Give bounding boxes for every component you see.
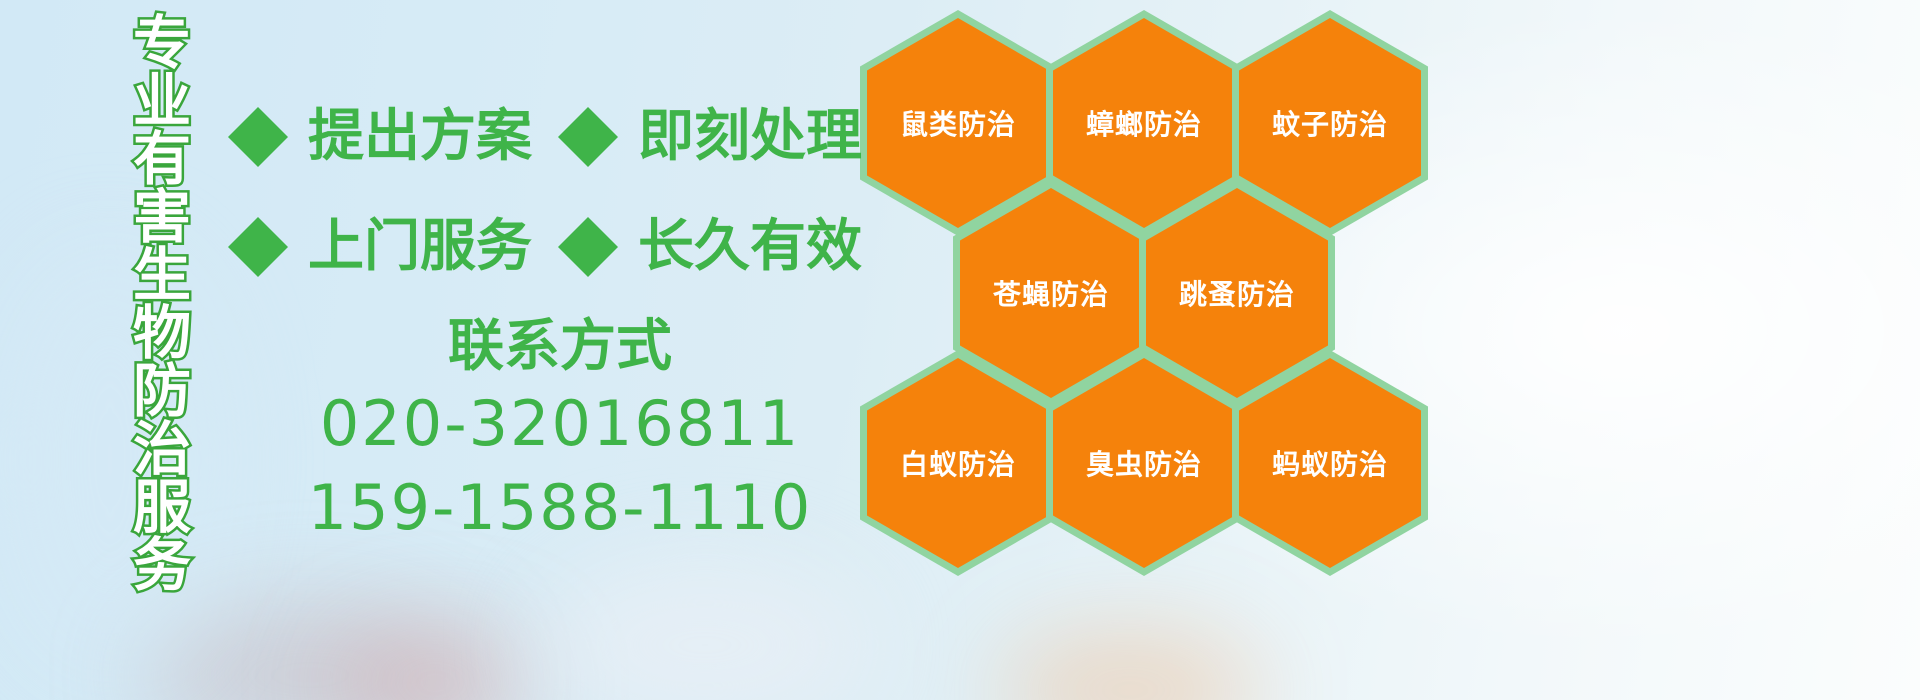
hex-inner: 蟑螂防治 xyxy=(1053,18,1235,228)
feature-label: 上门服务 xyxy=(308,219,532,275)
feature-list: 提出方案 即刻处理 上门服务 长久有效 xyxy=(228,82,868,302)
hex-inner: 臭虫防治 xyxy=(1053,358,1235,568)
hex-label: 蟑螂防治 xyxy=(1086,103,1202,143)
phone-number-mobile[interactable]: 159-1588-1110 xyxy=(240,466,880,550)
vertical-headline-char: 服 xyxy=(133,478,191,536)
vertical-headline-char: 生 xyxy=(133,246,191,304)
hex-inner: 鼠类防治 xyxy=(867,18,1049,228)
vertical-headline-char: 业 xyxy=(133,72,191,130)
background-blur-blob xyxy=(1000,630,1260,700)
contact-block: 联系方式 020-32016811 159-1588-1110 xyxy=(240,312,880,549)
vertical-headline-char: 有 xyxy=(133,130,191,188)
diamond-icon xyxy=(228,187,288,247)
hex-inner: 白蚁防治 xyxy=(867,358,1049,568)
feature-label: 提出方案 xyxy=(308,109,532,165)
hex-inner: 蚊子防治 xyxy=(1239,18,1421,228)
feature-row: 提出方案 即刻处理 xyxy=(228,82,868,192)
hex-inner: 苍蝇防治 xyxy=(960,188,1142,398)
hex-label: 蚂蚁防治 xyxy=(1272,443,1388,483)
vertical-headline-char: 务 xyxy=(133,536,191,594)
phone-number-landline[interactable]: 020-32016811 xyxy=(240,382,880,466)
hex-label: 蚊子防治 xyxy=(1272,103,1388,143)
hex-label: 白蚁防治 xyxy=(900,443,1016,483)
feature-item-door-to-door-service: 上门服务 xyxy=(228,217,558,277)
hex-label: 跳蚤防治 xyxy=(1179,273,1295,313)
diamond-icon xyxy=(228,77,288,137)
hex-inner: 跳蚤防治 xyxy=(1146,188,1328,398)
feature-item-immediate-handling: 即刻处理 xyxy=(558,107,862,167)
hex-inner: 蚂蚁防治 xyxy=(1239,358,1421,568)
vertical-headline-char: 防 xyxy=(133,362,191,420)
vertical-headline-char: 治 xyxy=(133,420,191,478)
background-blur-blob xyxy=(540,560,870,700)
hex-label: 臭虫防治 xyxy=(1086,443,1202,483)
background-blur-blob xyxy=(140,600,480,700)
service-hexagon-grid: 鼠类防治 蟑螂防治 蚊子防治 苍蝇防治 跳蚤防治 白蚁防治 xyxy=(860,0,1500,640)
promo-banner: 专 业 有 害 生 物 防 治 服 务 提出方案 即刻处理 上门服务 xyxy=(0,0,1920,700)
feature-item-propose-plan: 提出方案 xyxy=(228,107,558,167)
feature-label: 即刻处理 xyxy=(638,109,862,165)
feature-label: 长久有效 xyxy=(638,219,862,275)
hex-label: 鼠类防治 xyxy=(900,103,1016,143)
diamond-icon xyxy=(558,187,618,247)
vertical-headline-char: 专 xyxy=(133,14,191,72)
feature-item-long-lasting-effect: 长久有效 xyxy=(558,217,862,277)
vertical-headline-char: 害 xyxy=(133,188,191,246)
hex-label: 苍蝇防治 xyxy=(993,273,1109,313)
vertical-headline-char: 物 xyxy=(133,304,191,362)
contact-heading: 联系方式 xyxy=(240,312,880,382)
diamond-icon xyxy=(558,77,618,137)
background-blur-blob xyxy=(330,628,540,700)
vertical-headline: 专 业 有 害 生 物 防 治 服 务 xyxy=(108,14,216,574)
feature-row: 上门服务 长久有效 xyxy=(228,192,868,302)
